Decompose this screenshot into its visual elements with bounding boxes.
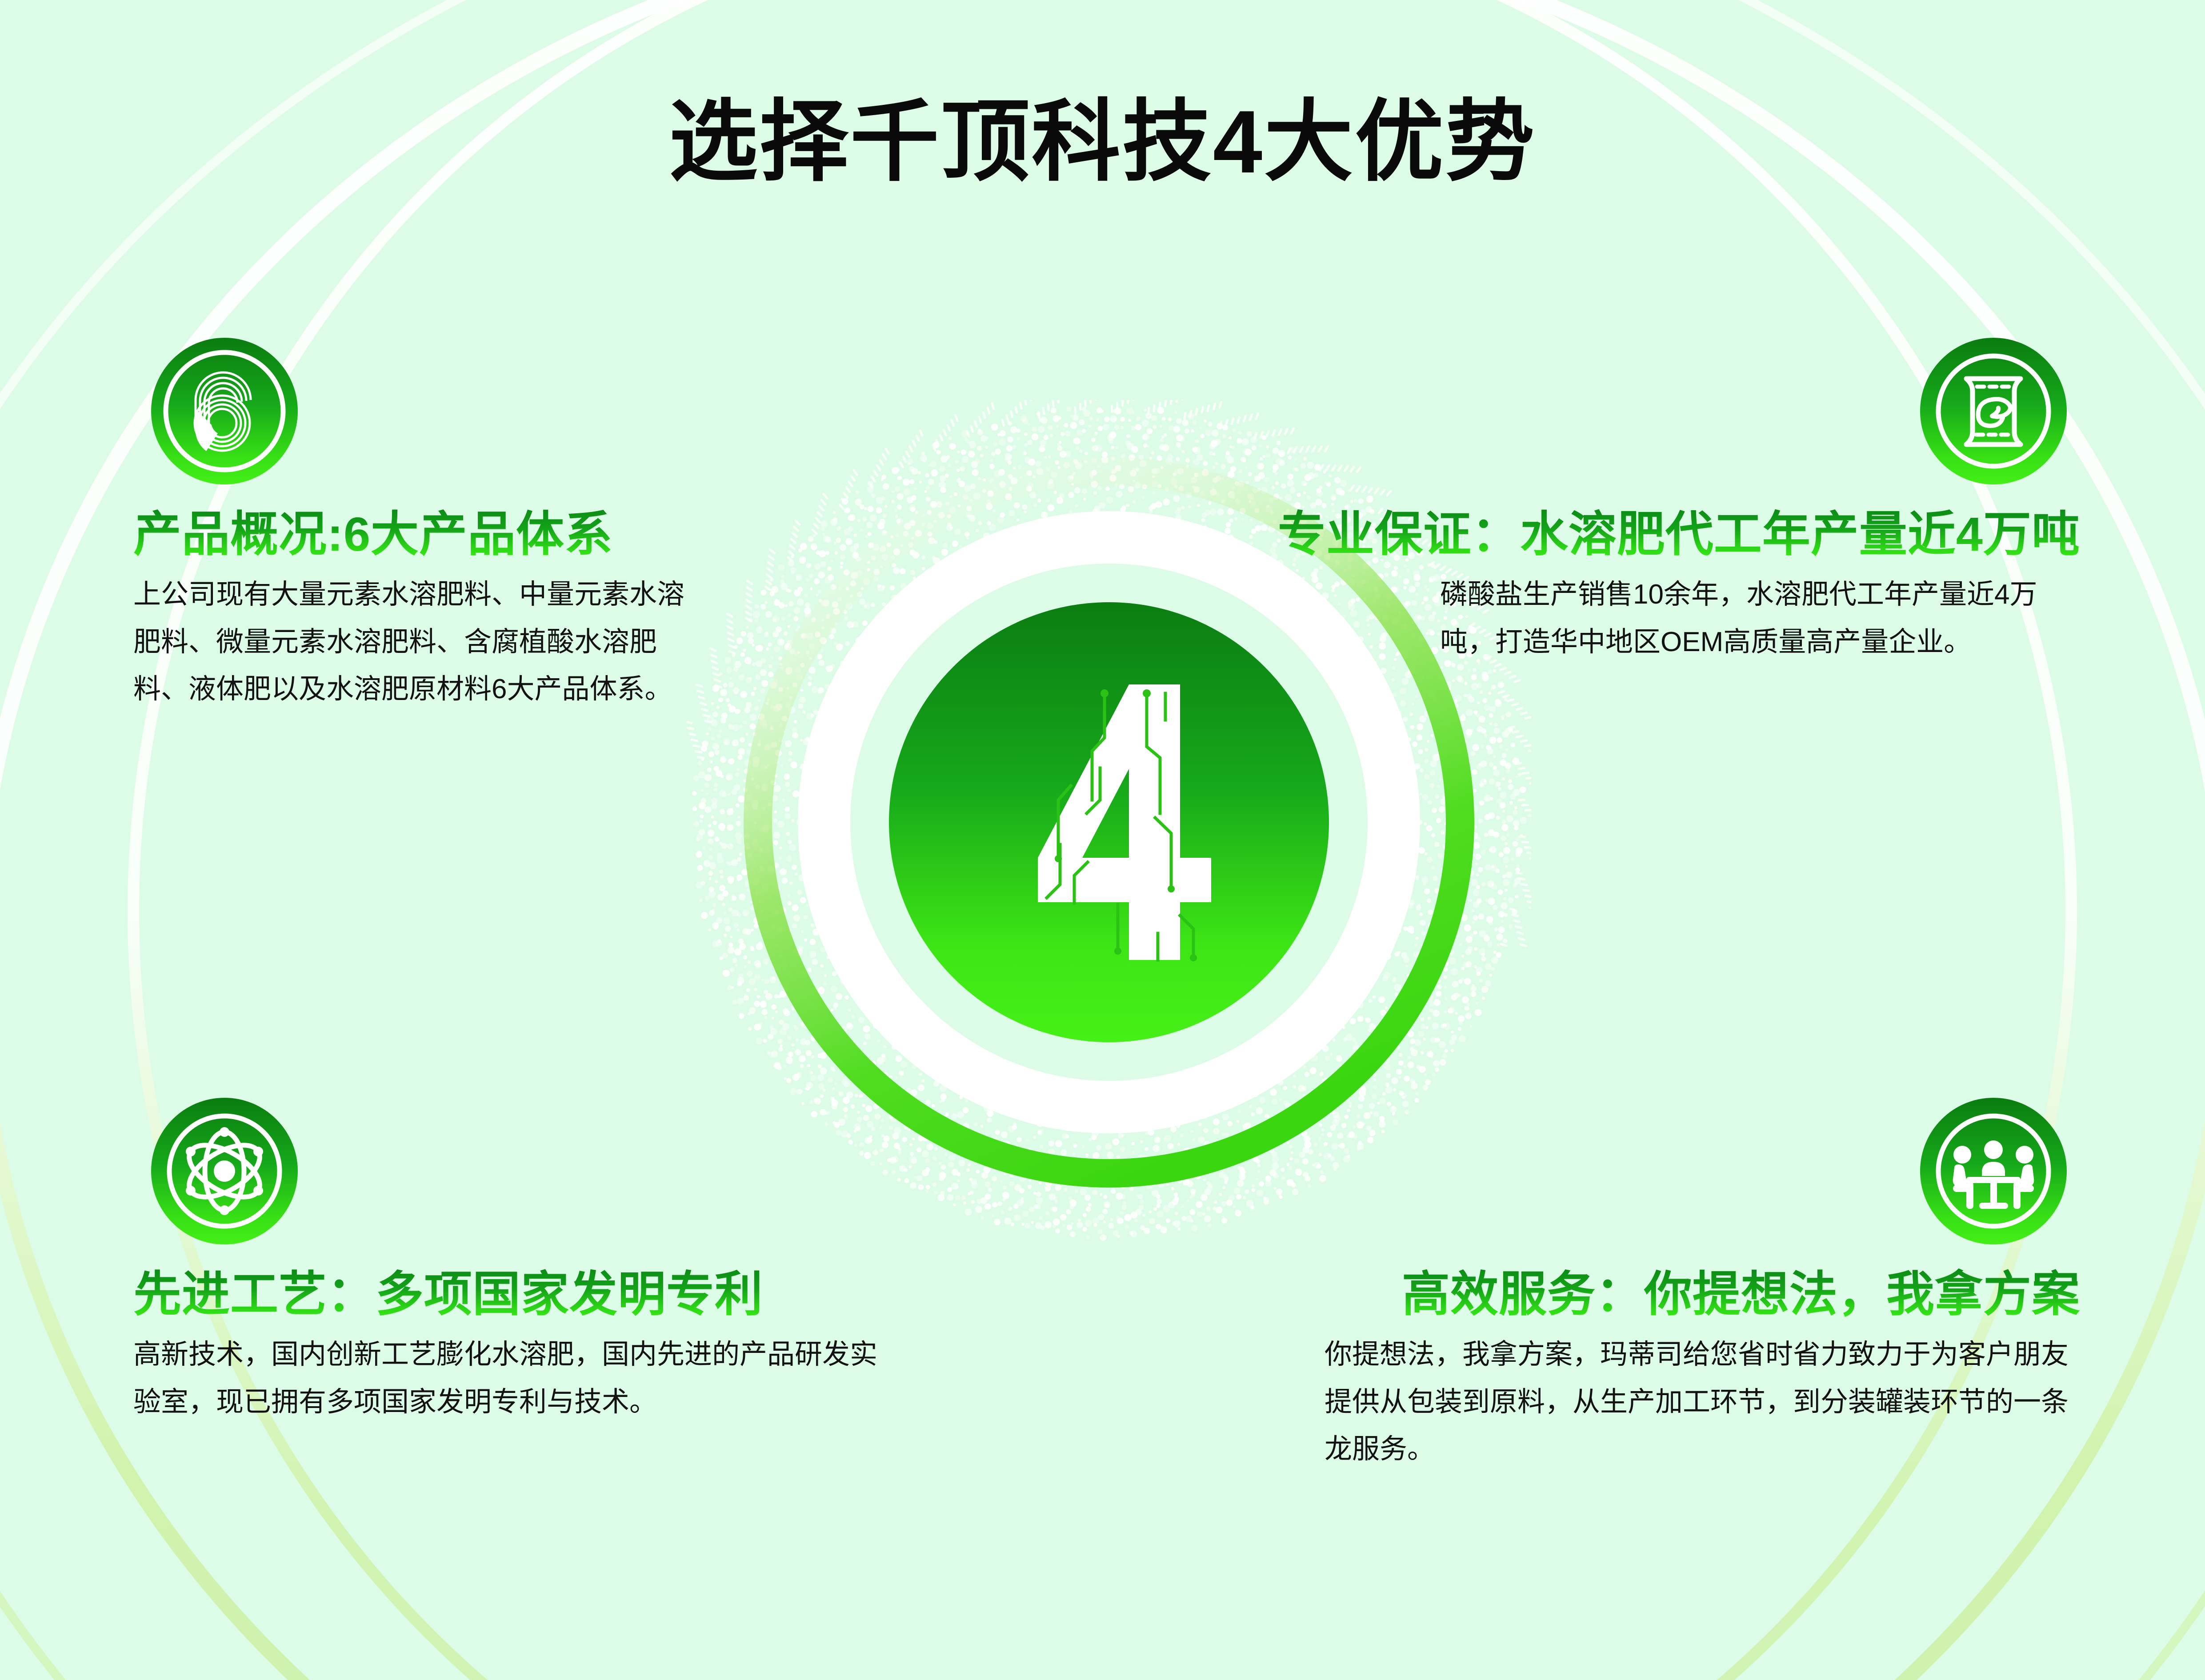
- feature-block-advanced-process: 先进工艺：多项国家发明专利 高新技术，国内创新工艺膨化水溶肥，国内先进的产品研发…: [133, 1098, 889, 1426]
- feature-heading: 专业保证：水溶肥代工年产量近4万吨: [1196, 508, 2080, 561]
- page-title: 选择千顶科技4大优势: [0, 96, 2205, 189]
- poster-stage: 选择千顶科技4大优势: [0, 0, 2205, 1680]
- fertilizer-bag-icon: [1920, 338, 2067, 484]
- feature-block-efficient-service: 高效服务：你提想法，我拿方案 你提想法，我拿方案，玛蒂司给您省时省力致力于为客户…: [1325, 1098, 2080, 1473]
- feature-body: 上公司现有大量元素水溶肥料、中量元素水溶肥料、微量元素水溶肥料、含腐植酸水溶肥料…: [133, 571, 702, 713]
- feature-block-professional-guarantee: 专业保证：水溶肥代工年产量近4万吨 磷酸盐生产销售10余年，水溶肥代工年产量近4…: [1196, 338, 2080, 666]
- feature-body: 磷酸盐生产销售10余年，水溶肥代工年产量近4万吨，打造华中地区OEM高质量高产量…: [1440, 571, 2080, 666]
- meeting-team-icon: [1920, 1098, 2067, 1244]
- feature-body: 高新技术，国内创新工艺膨化水溶肥，国内先进的产品研发实验室，现已拥有多项国家发明…: [133, 1331, 880, 1426]
- feature-heading: 产品概况:6大产品体系: [133, 508, 720, 561]
- atom-icon: [151, 1098, 298, 1244]
- feature-block-product-overview: 产品概况:6大产品体系 上公司现有大量元素水溶肥料、中量元素水溶肥料、微量元素水…: [133, 338, 720, 713]
- center-number-disc: [889, 602, 1329, 1042]
- feature-heading: 高效服务：你提想法，我拿方案: [1325, 1268, 2080, 1321]
- feature-body: 你提想法，我拿方案，玛蒂司给您省时省力致力于为客户朋友提供从包装到原料，从生产加…: [1325, 1331, 2080, 1473]
- number-six-spiral-icon: [151, 338, 298, 484]
- feature-heading: 先进工艺：多项国家发明专利: [133, 1268, 889, 1321]
- circuit-four-icon: [971, 667, 1247, 978]
